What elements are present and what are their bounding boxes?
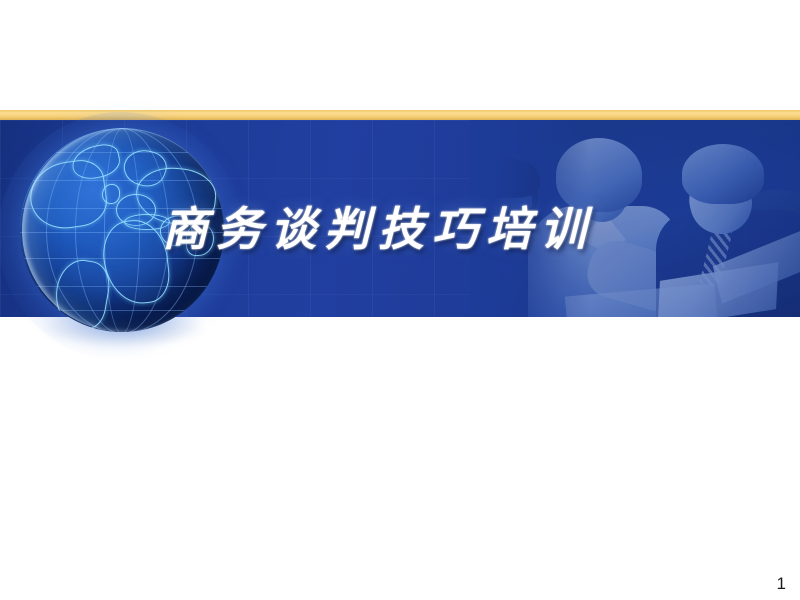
globe-landmass-britain <box>102 184 120 204</box>
globe-parallel <box>20 152 224 153</box>
globe-parallel <box>20 310 224 311</box>
presentation-slide: 商务谈判技巧培训 1 <box>0 0 800 600</box>
page-title: 商务谈判技巧培训 <box>162 196 662 262</box>
slide-number: 1 <box>777 574 786 594</box>
